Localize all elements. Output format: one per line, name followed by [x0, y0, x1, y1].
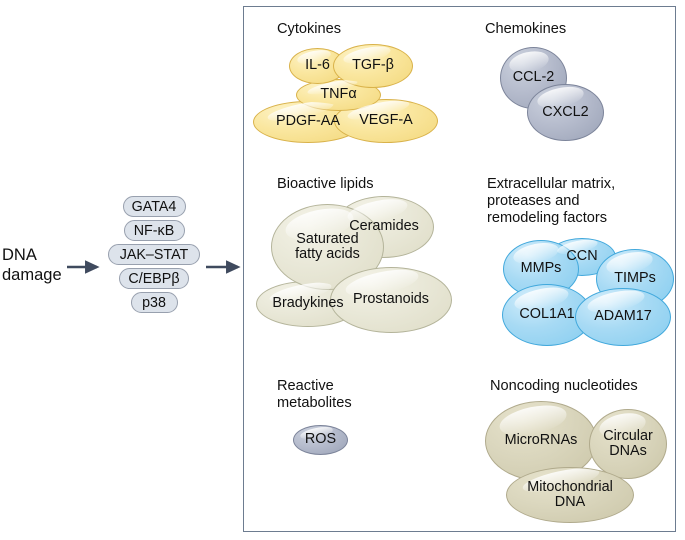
pathway-item-gata4[interactable]: GATA4	[123, 196, 186, 217]
pathway-item-p38[interactable]: p38	[131, 292, 178, 313]
signaling-pathway-stack: GATA4 NF-κB JAK–STAT C/EBPβ p38	[108, 196, 200, 316]
pathway-item-nfkb[interactable]: NF-κB	[124, 220, 185, 241]
diagram-canvas: DNA damage GATA4 NF-κB JAK–STAT C/EBPβ p…	[0, 0, 685, 540]
blob-cxcl2[interactable]: CXCL2	[527, 84, 604, 141]
blob-circular-dnas[interactable]: Circular DNAs	[589, 409, 667, 479]
pathway-item-cebp-beta[interactable]: C/EBPβ	[119, 268, 189, 289]
section-title-chemokines: Chemokines	[485, 21, 566, 38]
section-title-noncoding-nucleotides: Noncoding nucleotides	[490, 378, 638, 395]
arrow-pathway-to-sasp	[205, 258, 247, 276]
arrow-damage-to-pathway	[66, 258, 106, 276]
section-title-cytokines: Cytokines	[277, 21, 341, 38]
section-title-reactive-metabolites: Reactive metabolites	[277, 378, 352, 412]
section-title-bioactive-lipids: Bioactive lipids	[277, 176, 374, 193]
blob-prostanoids[interactable]: Prostanoids	[330, 267, 452, 333]
blob-ros[interactable]: ROS	[293, 425, 348, 455]
blob-tgf-beta[interactable]: TGF-β	[333, 44, 413, 88]
blob-adam17[interactable]: ADAM17	[575, 288, 671, 346]
dna-damage-label: DNA damage	[2, 246, 62, 285]
blob-mitochondrial-dna[interactable]: Mitochondrial DNA	[506, 467, 634, 523]
section-title-extracellular-matrix: Extracellular matrix, proteases and remo…	[487, 176, 615, 227]
pathway-item-jak-stat[interactable]: JAK–STAT	[108, 244, 200, 265]
